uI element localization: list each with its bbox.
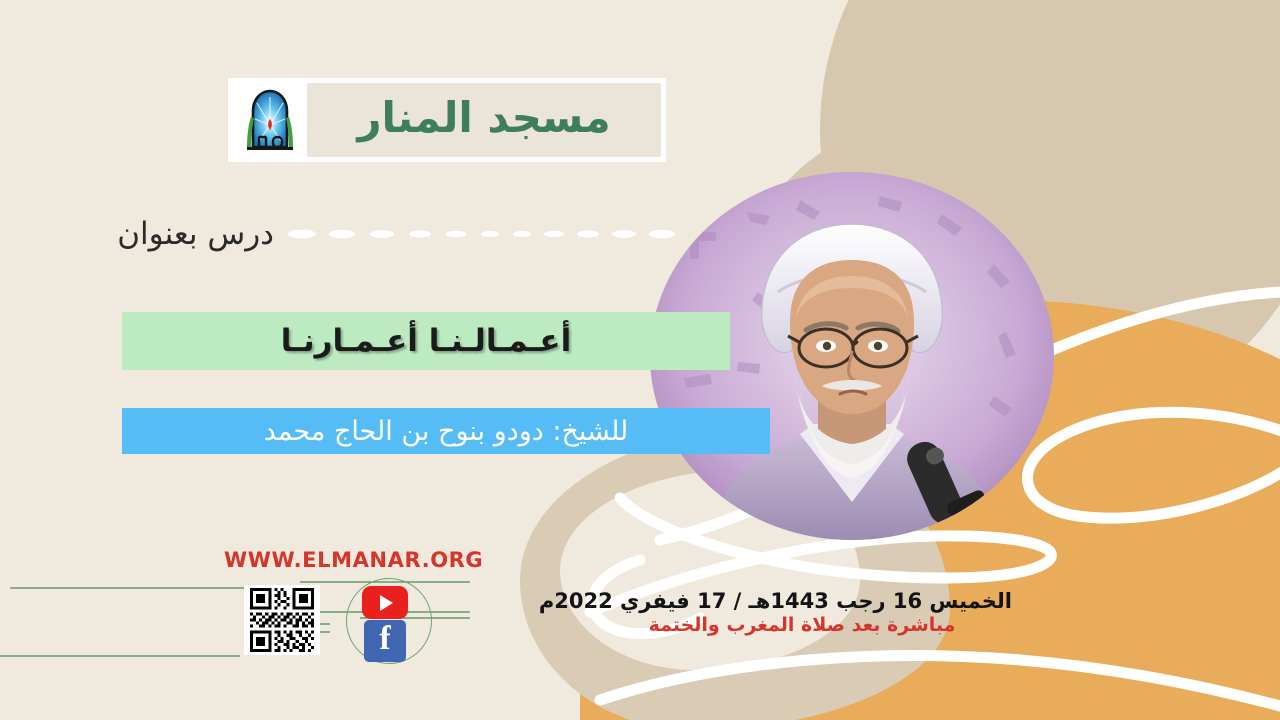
facebook-icon[interactable]: f: [364, 620, 406, 662]
event-date-block: الخميس 16 رجب 1443هـ / 17 فيفري 2022م مب…: [592, 588, 1012, 638]
event-poster: مسجد المنار درس بعنوان: [0, 0, 1280, 720]
brand-title-band: مسجد المنار: [307, 83, 661, 157]
lesson-title-bar: أعـمـالـنـا أعـمـارنـا: [122, 312, 730, 370]
qr-code[interactable]: [244, 585, 320, 655]
website-url[interactable]: WWW.ELMANAR.ORG: [224, 548, 483, 572]
speaker-name: للشيخ: دودو بنوح بن الحاج محمد: [264, 416, 629, 447]
lesson-label: درس بعنوان: [117, 216, 274, 252]
event-date: الخميس 16 رجب 1443هـ / 17 فيفري 2022م: [592, 588, 1012, 614]
lesson-title: أعـمـالـنـا أعـمـارنـا: [281, 323, 571, 359]
brand-title: مسجد المنار: [357, 97, 610, 143]
mosque-minaret-logo-icon: [233, 83, 307, 157]
speaker-name-bar: للشيخ: دودو بنوح بن الحاج محمد: [122, 408, 770, 454]
youtube-icon[interactable]: [362, 586, 408, 619]
lesson-intro-row: درس بعنوان: [117, 216, 688, 252]
play-triangle-icon: [380, 595, 393, 611]
stream-note: مباشرة بعد صلاة المغرب والختمة: [592, 614, 1012, 638]
dashed-line-icon: [288, 226, 688, 242]
facebook-glyph: f: [379, 622, 390, 656]
brand-header: مسجد المنار: [228, 78, 666, 162]
